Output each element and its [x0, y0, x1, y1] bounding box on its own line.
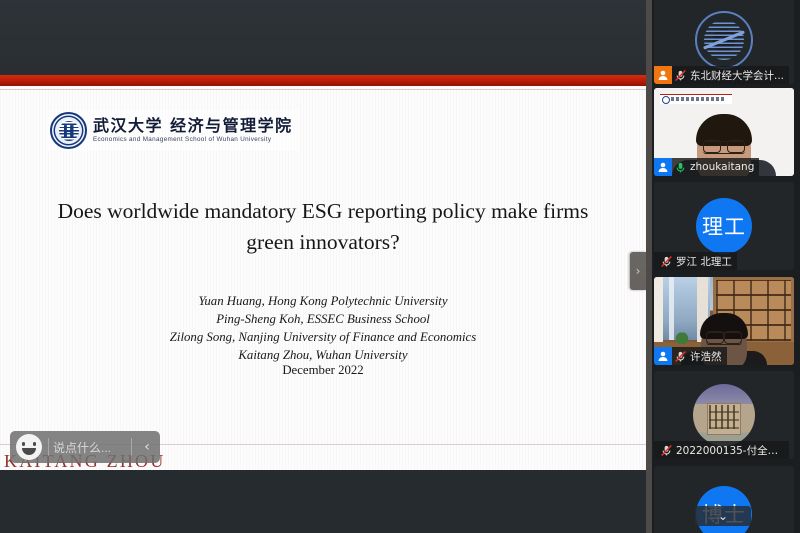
participant-tile[interactable]: 东北财经大学会计...	[654, 0, 794, 84]
participant-namebar: 2022000135-付全安-博...	[654, 441, 789, 459]
author-line: Zilong Song, Nanjing University of Finan…	[55, 328, 591, 346]
slide-authors: Yuan Huang, Hong Kong Polytechnic Univer…	[55, 292, 591, 365]
avatar-badge-icon	[654, 347, 672, 365]
participant-name: 东北财经大学会计...	[688, 68, 789, 83]
stage-letterbox-top	[0, 0, 646, 75]
participant-name: zhoukaitang	[688, 161, 759, 173]
chat-input[interactable]: 说点什么...	[53, 439, 127, 456]
video-plant	[674, 326, 690, 344]
person-glasses	[706, 332, 742, 345]
participant-tile[interactable]: 2022000135-付全安-博...	[654, 371, 794, 459]
chevron-right-icon: ›	[636, 264, 641, 278]
participant-name: 罗江 北理工	[674, 254, 737, 269]
avatar-badge-icon	[654, 158, 672, 176]
slide-accent-band	[0, 75, 646, 86]
slide-date: December 2022	[55, 363, 591, 378]
initials-avatar: 理工	[696, 198, 752, 254]
participant-tile[interactable]: 理工 罗江 北理工	[654, 182, 794, 270]
participant-tile[interactable]: zhoukaitang	[654, 88, 794, 176]
video-curtain	[654, 277, 663, 342]
university-logo: 武汉大学 经济与管理学院 Economics and Management Sc…	[48, 110, 299, 151]
strip-gutter	[646, 0, 652, 533]
video-background-seal-icon	[662, 96, 670, 104]
wuhan-university-seal-icon	[50, 112, 87, 149]
avatar-badge-icon	[654, 66, 672, 84]
participant-namebar: 罗江 北理工	[654, 252, 737, 270]
panel-collapse-button[interactable]: ›	[630, 252, 646, 290]
participant-name: 许浩然	[688, 349, 727, 364]
video-background-text	[671, 97, 725, 101]
logo-text: 武汉大学 经济与管理学院 Economics and Management Sc…	[93, 118, 293, 143]
mic-muted-icon	[672, 69, 688, 82]
chevron-down-icon: ⌄	[718, 509, 728, 523]
participant-tile[interactable]: 许浩然	[654, 277, 794, 365]
slide-rule-top	[0, 89, 646, 90]
mic-active-icon	[672, 161, 688, 174]
meeting-window: 武汉大学 经济与管理学院 Economics and Management Sc…	[0, 0, 800, 533]
crest-avatar-icon	[695, 11, 753, 69]
photo-avatar	[693, 384, 755, 446]
author-line: Ping-Sheng Koh, ESSEC Business School	[55, 310, 591, 328]
participant-strip[interactable]: 东北财经大学会计... zhoukaitang	[646, 0, 800, 533]
mic-muted-icon	[672, 350, 688, 363]
participant-name: 2022000135-付全安-博...	[674, 443, 789, 458]
mic-muted-icon	[658, 255, 674, 268]
author-line: Kaitang Zhou, Wuhan University	[55, 346, 591, 364]
logo-english-name: Economics and Management School of Wuhan…	[93, 137, 293, 143]
chat-input-bar[interactable]: 说点什么... ‹	[10, 431, 160, 463]
shared-screen-stage[interactable]: 武汉大学 经济与管理学院 Economics and Management Sc…	[0, 0, 646, 533]
logo-chinese-name: 武汉大学 经济与管理学院	[93, 118, 293, 134]
stage-letterbox-bottom	[0, 470, 646, 533]
participant-namebar: 许浩然	[654, 347, 727, 365]
author-line: Yuan Huang, Hong Kong Polytechnic Univer…	[55, 292, 591, 310]
participant-namebar: zhoukaitang	[654, 158, 759, 176]
chat-divider	[48, 438, 49, 456]
scroll-down-button[interactable]: ⌄	[695, 506, 751, 526]
smiley-icon[interactable]	[16, 434, 42, 460]
slide-title: Does worldwide mandatory ESG reporting p…	[55, 196, 591, 257]
chevron-left-icon[interactable]: ‹	[136, 439, 158, 455]
mic-muted-icon	[658, 444, 674, 457]
chat-divider	[131, 438, 132, 456]
participant-namebar: 东北财经大学会计...	[654, 66, 789, 84]
person-glasses	[703, 141, 745, 154]
